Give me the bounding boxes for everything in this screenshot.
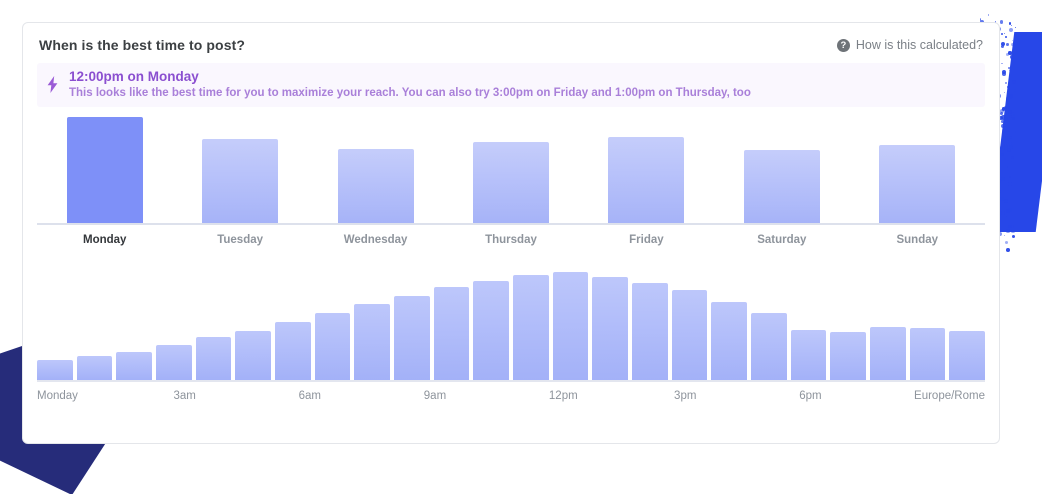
decoration-speckle [1009,22,1012,25]
hour-column[interactable] [77,268,113,380]
question-circle-icon: ? [837,39,850,52]
hour-column[interactable] [632,268,668,380]
hour-bar[interactable] [672,290,708,380]
decoration-speckle [1011,156,1014,159]
day-bar[interactable] [608,137,684,223]
decoration-speckle [1011,25,1012,26]
decoration-speckle [1000,112,1003,115]
decoration-speckle [1001,124,1005,128]
hour-bar[interactable] [711,302,747,380]
decoration-speckle [1010,55,1014,59]
decoration-speckle [1002,70,1006,74]
day-bar[interactable] [473,142,549,223]
decoration-speckle [1006,112,1008,114]
decoration-speckle [1005,82,1007,84]
decoration-speckle [1000,109,1004,113]
hour-bar[interactable] [315,313,351,380]
decoration-speckle [1001,46,1002,47]
decoration-speckle [1009,70,1010,71]
decoration-speckle [1001,45,1005,49]
hour-bar[interactable] [196,337,232,380]
decoration-speckle [1004,107,1007,110]
decoration-speckle [1005,117,1008,120]
hour-column[interactable] [354,268,390,380]
hour-tick-label: Europe/Rome [914,390,985,402]
day-column[interactable] [443,117,578,223]
decoration-speckle [1011,230,1014,233]
decoration-speckle [1013,114,1015,116]
decoration-speckle [1008,182,1012,186]
hour-column[interactable] [235,268,271,380]
decoration-speckle [1012,80,1016,84]
page-title: When is the best time to post? [39,37,245,53]
decoration-speckle [1000,197,1004,201]
hour-bar[interactable] [434,287,470,380]
hour-tick-label: 3am [174,390,196,402]
hour-bar[interactable] [870,327,906,380]
decoration-speckle [1009,176,1011,178]
decoration-speckle [1008,110,1012,114]
hour-tick-label: Monday [37,390,78,402]
hour-bar[interactable] [473,281,509,380]
decoration-speckle [1014,89,1016,91]
decoration-speckle [1001,153,1004,156]
decoration-speckle [1001,42,1005,46]
hour-bar[interactable] [751,313,787,380]
decoration-speckle [1001,177,1005,181]
day-column[interactable] [172,117,307,223]
hour-bar[interactable] [791,330,827,380]
decoration-speckle [1009,142,1012,145]
hour-tick-label: 9am [424,390,446,402]
days-axis-labels: MondayTuesdayWednesdayThursdayFridaySatu… [37,234,985,246]
hour-bar[interactable] [116,352,152,380]
hour-tick-label: 12pm [549,390,578,402]
hour-column[interactable] [791,268,827,380]
card-header: When is the best time to post? ? How is … [23,23,999,63]
hour-bar[interactable] [156,345,192,380]
day-label: Saturday [714,234,849,246]
hour-column[interactable] [473,268,509,380]
day-column[interactable] [579,117,714,223]
decoration-speckle [980,18,981,21]
decoration-speckle [1006,43,1009,46]
day-bar[interactable] [879,145,955,223]
decoration-speckle [1009,136,1012,139]
decoration-speckle [1004,144,1008,148]
decoration-speckle [1004,199,1007,202]
decoration-speckle [1004,235,1005,236]
decoration-speckle [1006,142,1008,144]
decoration-speckle [1004,158,1006,160]
hour-bar[interactable] [553,272,589,380]
hour-column[interactable] [553,268,589,380]
hour-column[interactable] [870,268,906,380]
day-label: Thursday [443,234,578,246]
decoration-speckle [1007,138,1010,141]
day-bar[interactable] [67,117,143,223]
decoration-speckle [1011,161,1012,162]
day-label: Wednesday [308,234,443,246]
decoration-speckle [1007,166,1008,167]
decoration-speckle [1009,28,1013,32]
decoration-speckle [1009,94,1013,98]
hour-column[interactable] [949,268,985,380]
decoration-speckle [1006,216,1007,217]
decoration-speckle [1004,145,1008,149]
decoration-speckle [1006,53,1009,56]
day-label: Tuesday [172,234,307,246]
decoration-speckle [1006,209,1010,213]
hour-column[interactable] [156,268,192,380]
day-label: Sunday [850,234,985,246]
decoration-speckle [1012,40,1013,41]
decoration-speckle [1002,129,1005,132]
hour-column[interactable] [275,268,311,380]
hour-tick-label: 3pm [674,390,696,402]
lightning-bolt-icon [45,73,59,95]
decoration-speckle [1008,51,1011,54]
day-bar[interactable] [202,139,278,223]
hours-axis-labels: Monday3am6am9am12pm3pm6pmEurope/Rome [37,390,985,408]
decoration-speckle [1006,229,1009,232]
hour-tick-label: 6am [299,390,321,402]
hour-column[interactable] [910,268,946,380]
decoration-speckle [1015,131,1016,132]
day-column[interactable] [37,117,172,223]
decoration-speckle [1003,131,1005,133]
hour-bar[interactable] [354,304,390,380]
hour-column[interactable] [196,268,232,380]
decoration-speckle [1010,225,1013,228]
decoration-speckle [1006,248,1010,252]
hour-bar[interactable] [394,296,430,380]
day-bar[interactable] [338,149,414,223]
hour-bar[interactable] [37,360,73,380]
decoration-speckle [1007,86,1010,89]
hour-column[interactable] [394,268,430,380]
hour-column[interactable] [830,268,866,380]
decoration-speckle [1008,208,1012,212]
decoration-speckle [1012,112,1013,113]
hour-bar[interactable] [949,331,985,380]
day-column[interactable] [714,117,849,223]
banner-headline: 12:00pm on Monday [69,69,751,84]
hours-bar-chart [37,268,985,382]
banner-text: 12:00pm on Monday This looks like the be… [69,69,751,99]
days-bar-chart [37,117,985,225]
hour-column[interactable] [711,268,747,380]
hour-tick-label: 6pm [799,390,821,402]
help-link-label: How is this calculated? [856,38,983,52]
day-label: Monday [37,234,172,246]
decoration-speckle [1008,67,1010,69]
decoration-speckle [1010,97,1012,99]
day-label: Friday [579,234,714,246]
decoration-speckle [1001,33,1003,35]
decoration-speckle [1006,98,1009,101]
decoration-speckle [1012,117,1015,120]
hour-column[interactable] [116,268,152,380]
decoration-speckle [1012,235,1015,238]
decoration-speckle [1007,148,1011,152]
charts-container: MondayTuesdayWednesdayThursdayFridaySatu… [23,117,999,408]
decoration-speckle [1002,72,1006,76]
decoration-speckle [1001,211,1005,215]
best-time-to-post-card: When is the best time to post? ? How is … [22,22,1000,444]
hour-bar[interactable] [513,275,549,380]
hour-bar[interactable] [77,356,113,380]
hour-column[interactable] [751,268,787,380]
hour-bar[interactable] [632,283,668,380]
hour-column[interactable] [672,268,708,380]
decoration-speckle [1005,36,1007,38]
decoration-speckle [988,14,989,15]
decoration-speckle [1002,107,1005,110]
day-bar[interactable] [744,150,820,223]
decoration-speckle [1004,33,1006,35]
decoration-speckle [1001,63,1002,64]
hour-column[interactable] [513,268,549,380]
decoration-speckle [1000,146,1003,149]
decoration-speckle [1001,115,1005,119]
decoration-speckle [1000,20,1004,24]
decoration-speckle [1005,241,1008,244]
decoration-speckle [1015,27,1016,28]
decoration-speckle [1005,131,1009,135]
decoration-speckle [1007,188,1009,190]
decoration-speckle [1004,106,1007,109]
hour-column[interactable] [37,268,73,380]
decoration-speckle [1001,120,1004,123]
best-time-banner: 12:00pm on Monday This looks like the be… [37,63,985,107]
decoration-speckle [1005,136,1008,139]
hour-column[interactable] [315,268,351,380]
hour-column[interactable] [434,268,470,380]
decoration-speckle [1009,145,1012,148]
decoration-speckle [1011,43,1014,46]
decoration-speckle [1003,126,1007,130]
hour-bar[interactable] [275,322,311,380]
banner-subtext: This looks like the best time for you to… [69,87,751,99]
decoration-speckle [1009,115,1013,119]
hour-bar[interactable] [830,332,866,380]
decoration-speckle [1004,92,1005,93]
how-is-this-calculated-link[interactable]: ? How is this calculated? [837,38,983,52]
hour-bar[interactable] [235,331,271,380]
hour-bar[interactable] [910,328,946,380]
hour-column[interactable] [592,268,628,380]
day-column[interactable] [308,117,443,223]
hour-bar[interactable] [592,277,628,380]
decoration-speckle [1006,97,1008,99]
decoration-speckle [1008,225,1012,229]
day-column[interactable] [850,117,985,223]
